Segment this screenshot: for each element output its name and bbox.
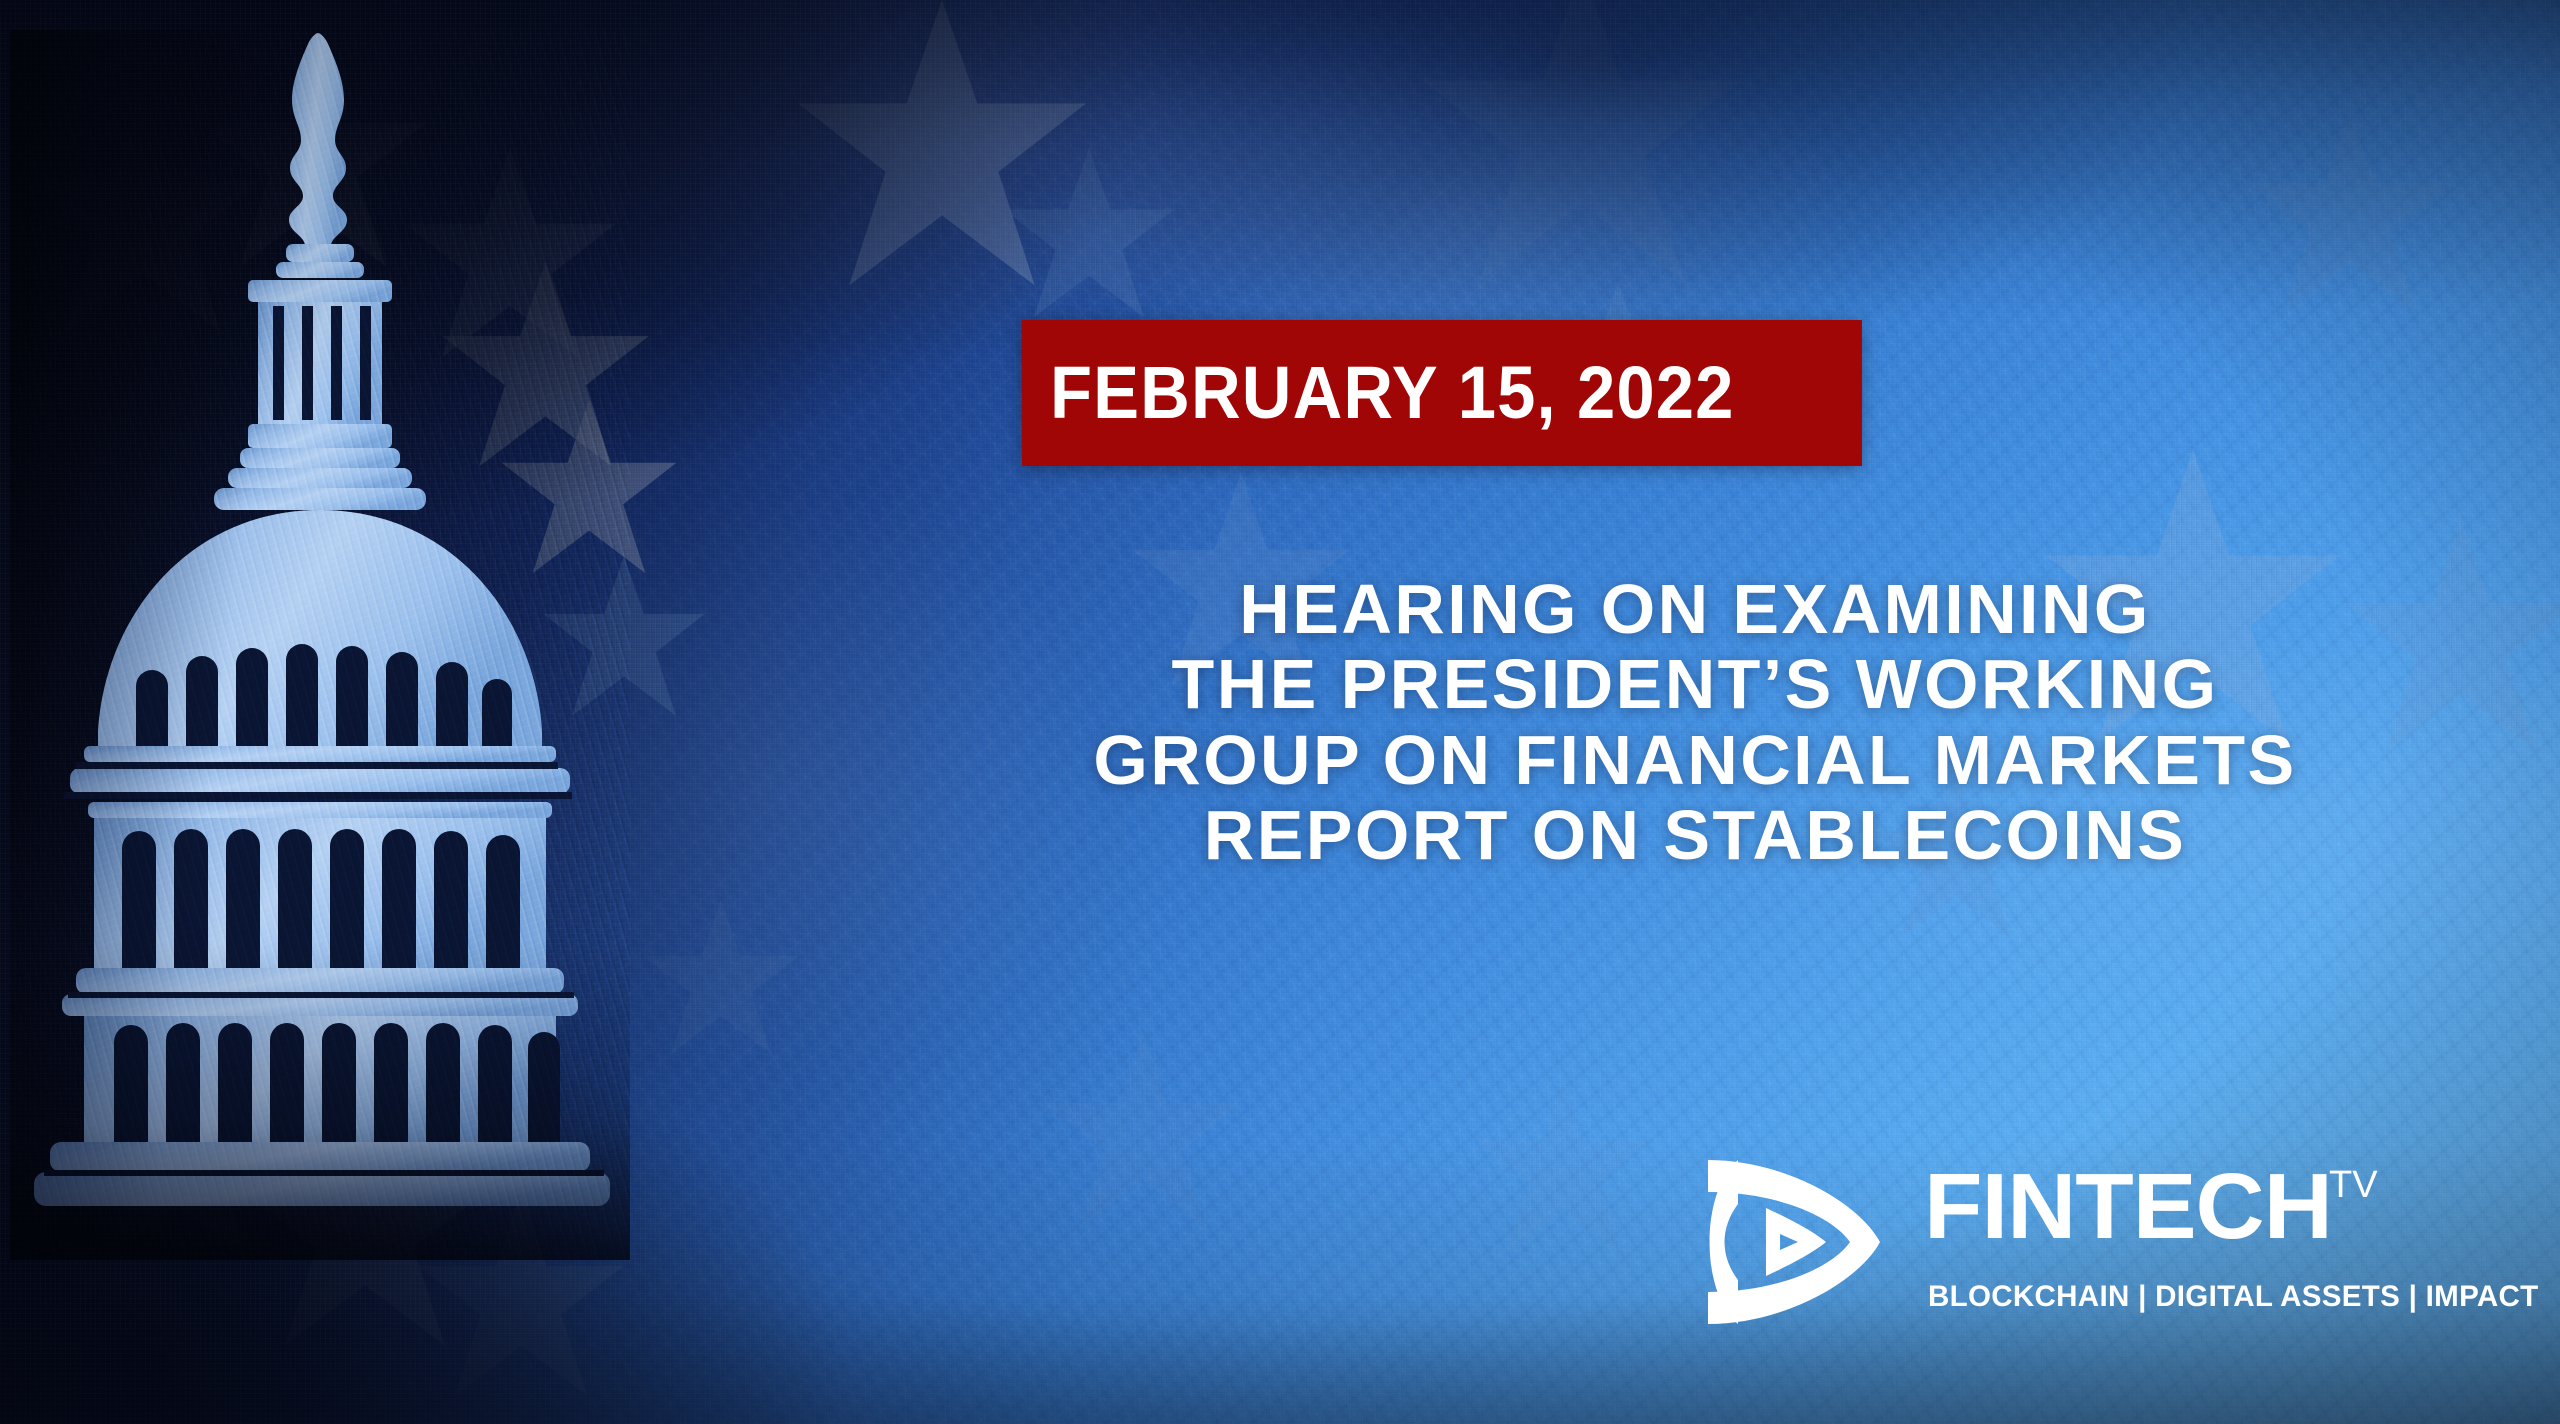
event-title-block: HEARING ON EXAMINING THE PRESIDENT’S WOR…: [1010, 572, 2380, 873]
date-banner: FEBRUARY 15, 2022: [1022, 320, 1862, 466]
event-title-line-1: HEARING ON EXAMINING: [1010, 572, 2380, 647]
event-title-line-4: REPORT ON STABLECOINS: [1010, 798, 2380, 873]
fintech-tv-play-mark-icon: [1694, 1142, 1894, 1342]
event-title-line-3: GROUP ON FINANCIAL MARKETS: [1010, 723, 2380, 798]
fintech-wordmark: FINTECH TV: [1924, 1162, 2378, 1250]
date-banner-label: FEBRUARY 15, 2022: [1050, 356, 1735, 430]
tv-superscript-text: TV: [2329, 1166, 2378, 1204]
logo-tagline: BLOCKCHAIN | DIGITAL ASSETS | IMPACT: [1928, 1280, 2539, 1314]
fintech-wordmark-text: FINTECH: [1924, 1162, 2332, 1250]
fintech-tv-logo: FINTECH TV BLOCKCHAIN | DIGITAL ASSETS |…: [1694, 1128, 2474, 1358]
promo-graphic-canvas: FEBRUARY 15, 2022 HEARING ON EXAMINING T…: [0, 0, 2560, 1424]
event-title-line-2: THE PRESIDENT’S WORKING: [1010, 647, 2380, 722]
